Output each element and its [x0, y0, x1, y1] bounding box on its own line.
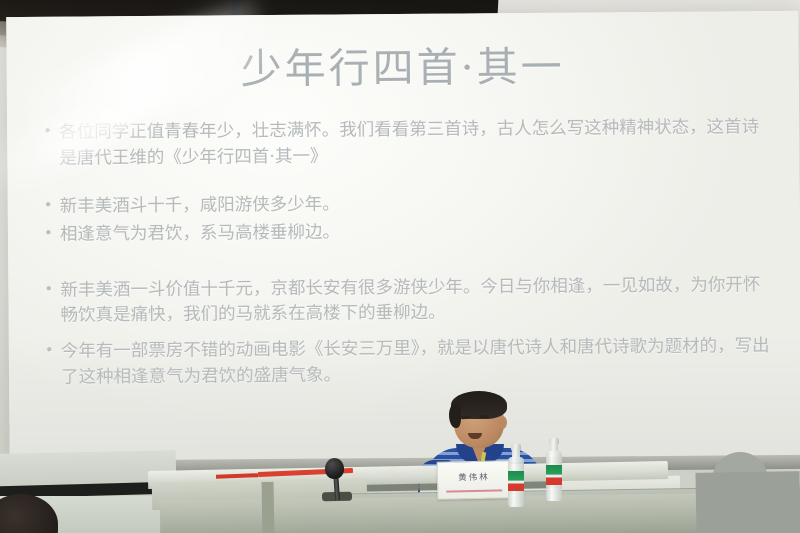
slide-bullet-translation: 新丰美酒一斗价值十千元，京都长安有很多游侠少年。今日与你相逢，一见如故，为你开怀…	[42, 273, 772, 331]
water-bottle[interactable]	[508, 449, 524, 507]
projection-screen: 少年行四首·其一 各位同学正值青春年少，壮志满怀。我们看看第三首诗，古人怎么写这…	[6, 11, 800, 463]
name-placard-text: 黄伟林	[438, 470, 510, 484]
slide-title: 少年行四首·其一	[6, 31, 798, 97]
slide-bullet-list: 各位同学正值青春年少，壮志满怀。我们看看第三首诗，古人怎么写这种精神状态，这首诗…	[41, 115, 773, 402]
bottle-label	[508, 471, 524, 491]
speaker-eye-right	[480, 415, 489, 419]
chair-back	[695, 471, 800, 533]
slide-bullet-poem-line-1: 新丰美酒斗十千，咸阳游侠多少年。	[42, 189, 772, 221]
screenshot-root: 少年行四首·其一 各位同学正值青春年少，壮志满怀。我们看看第三首诗，古人怎么写这…	[0, 0, 800, 533]
name-placard-underline	[446, 489, 502, 492]
water-bottle[interactable]	[546, 443, 562, 501]
name-placard: 黄伟林	[437, 460, 512, 500]
speaker-ear	[498, 416, 507, 429]
microphone-icon[interactable]	[325, 458, 344, 479]
slide-bullet-film-reference: 今年有一部票房不错的动画电影《长安三万里》，就是以唐代诗人和唐代诗歌为题材的，写…	[43, 334, 773, 392]
bottle-label	[546, 465, 562, 485]
slide-content: 少年行四首·其一 各位同学正值青春年少，壮志满怀。我们看看第三首诗，古人怎么写这…	[6, 11, 800, 463]
slide-bullet-intro: 各位同学正值青春年少，壮志满怀。我们看看第三首诗，古人怎么写这种精神状态，这首诗…	[41, 115, 771, 173]
speaker-eye-left	[461, 416, 470, 420]
desk-divider	[262, 482, 275, 533]
speaker-hair-side	[449, 404, 461, 428]
slide-bullet-poem-line-2: 相逢意气为君饮，系马高楼垂柳边。	[42, 217, 772, 249]
